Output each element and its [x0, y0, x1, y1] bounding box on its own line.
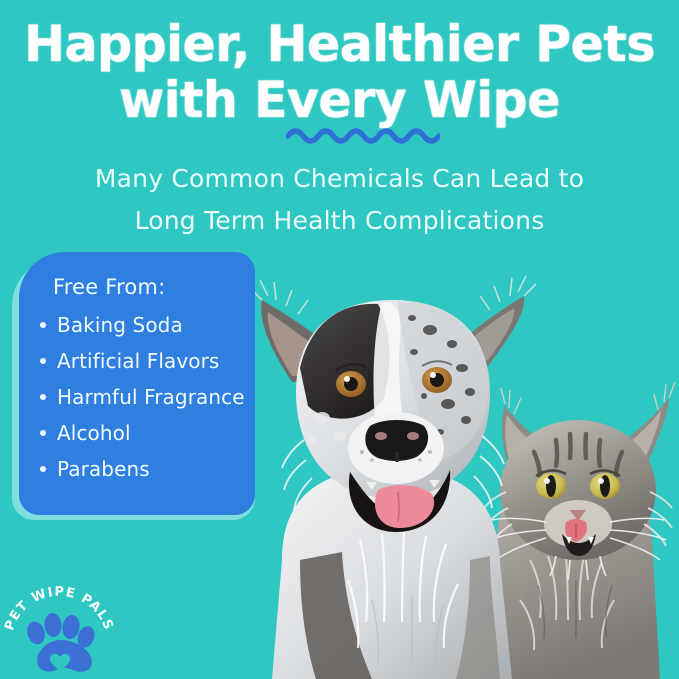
page-title: Happier, Healthier Pets with Every Wipe	[0, 16, 679, 128]
free-from-list: Baking Soda Artificial Flavors Harmful F…	[35, 313, 261, 493]
wavy-underline-icon	[286, 124, 440, 144]
bullet-icon	[40, 322, 46, 328]
list-item: Harmful Fragrance	[35, 385, 261, 410]
brand-logo: PET WIPE PALS	[4, 578, 114, 676]
tabby-cat-photo	[484, 382, 675, 679]
bullet-icon	[40, 358, 46, 364]
list-item-label: Baking Soda	[57, 313, 183, 337]
free-from-card: Free From: Baking Soda Artificial Flavor…	[19, 252, 255, 515]
bullet-icon	[40, 430, 46, 436]
subtitle-line-2: Long Term Health Complications	[0, 200, 679, 242]
list-item-label: Alcohol	[57, 421, 131, 445]
list-item: Alcohol	[35, 421, 261, 446]
bullet-icon	[40, 466, 46, 472]
subtitle-line-1: Many Common Chemicals Can Lead to	[0, 158, 679, 200]
headline-line-1: Happier, Healthier Pets	[7, 16, 672, 72]
page-subtitle: Many Common Chemicals Can Lead to Long T…	[0, 158, 679, 242]
list-item: Parabens	[35, 457, 261, 482]
list-item: Baking Soda	[35, 313, 261, 338]
list-item-label: Artificial Flavors	[57, 349, 219, 373]
bullet-icon	[40, 394, 46, 400]
border-collie-dog-photo	[250, 276, 536, 679]
list-item-label: Harmful Fragrance	[57, 385, 245, 409]
free-from-title: Free From:	[53, 275, 165, 299]
pet-wipe-ad-banner: Happier, Healthier Pets with Every Wipe …	[0, 0, 679, 679]
headline-line-2: with Every Wipe	[7, 72, 672, 128]
list-item-label: Parabens	[57, 457, 150, 481]
list-item: Artificial Flavors	[35, 349, 261, 374]
